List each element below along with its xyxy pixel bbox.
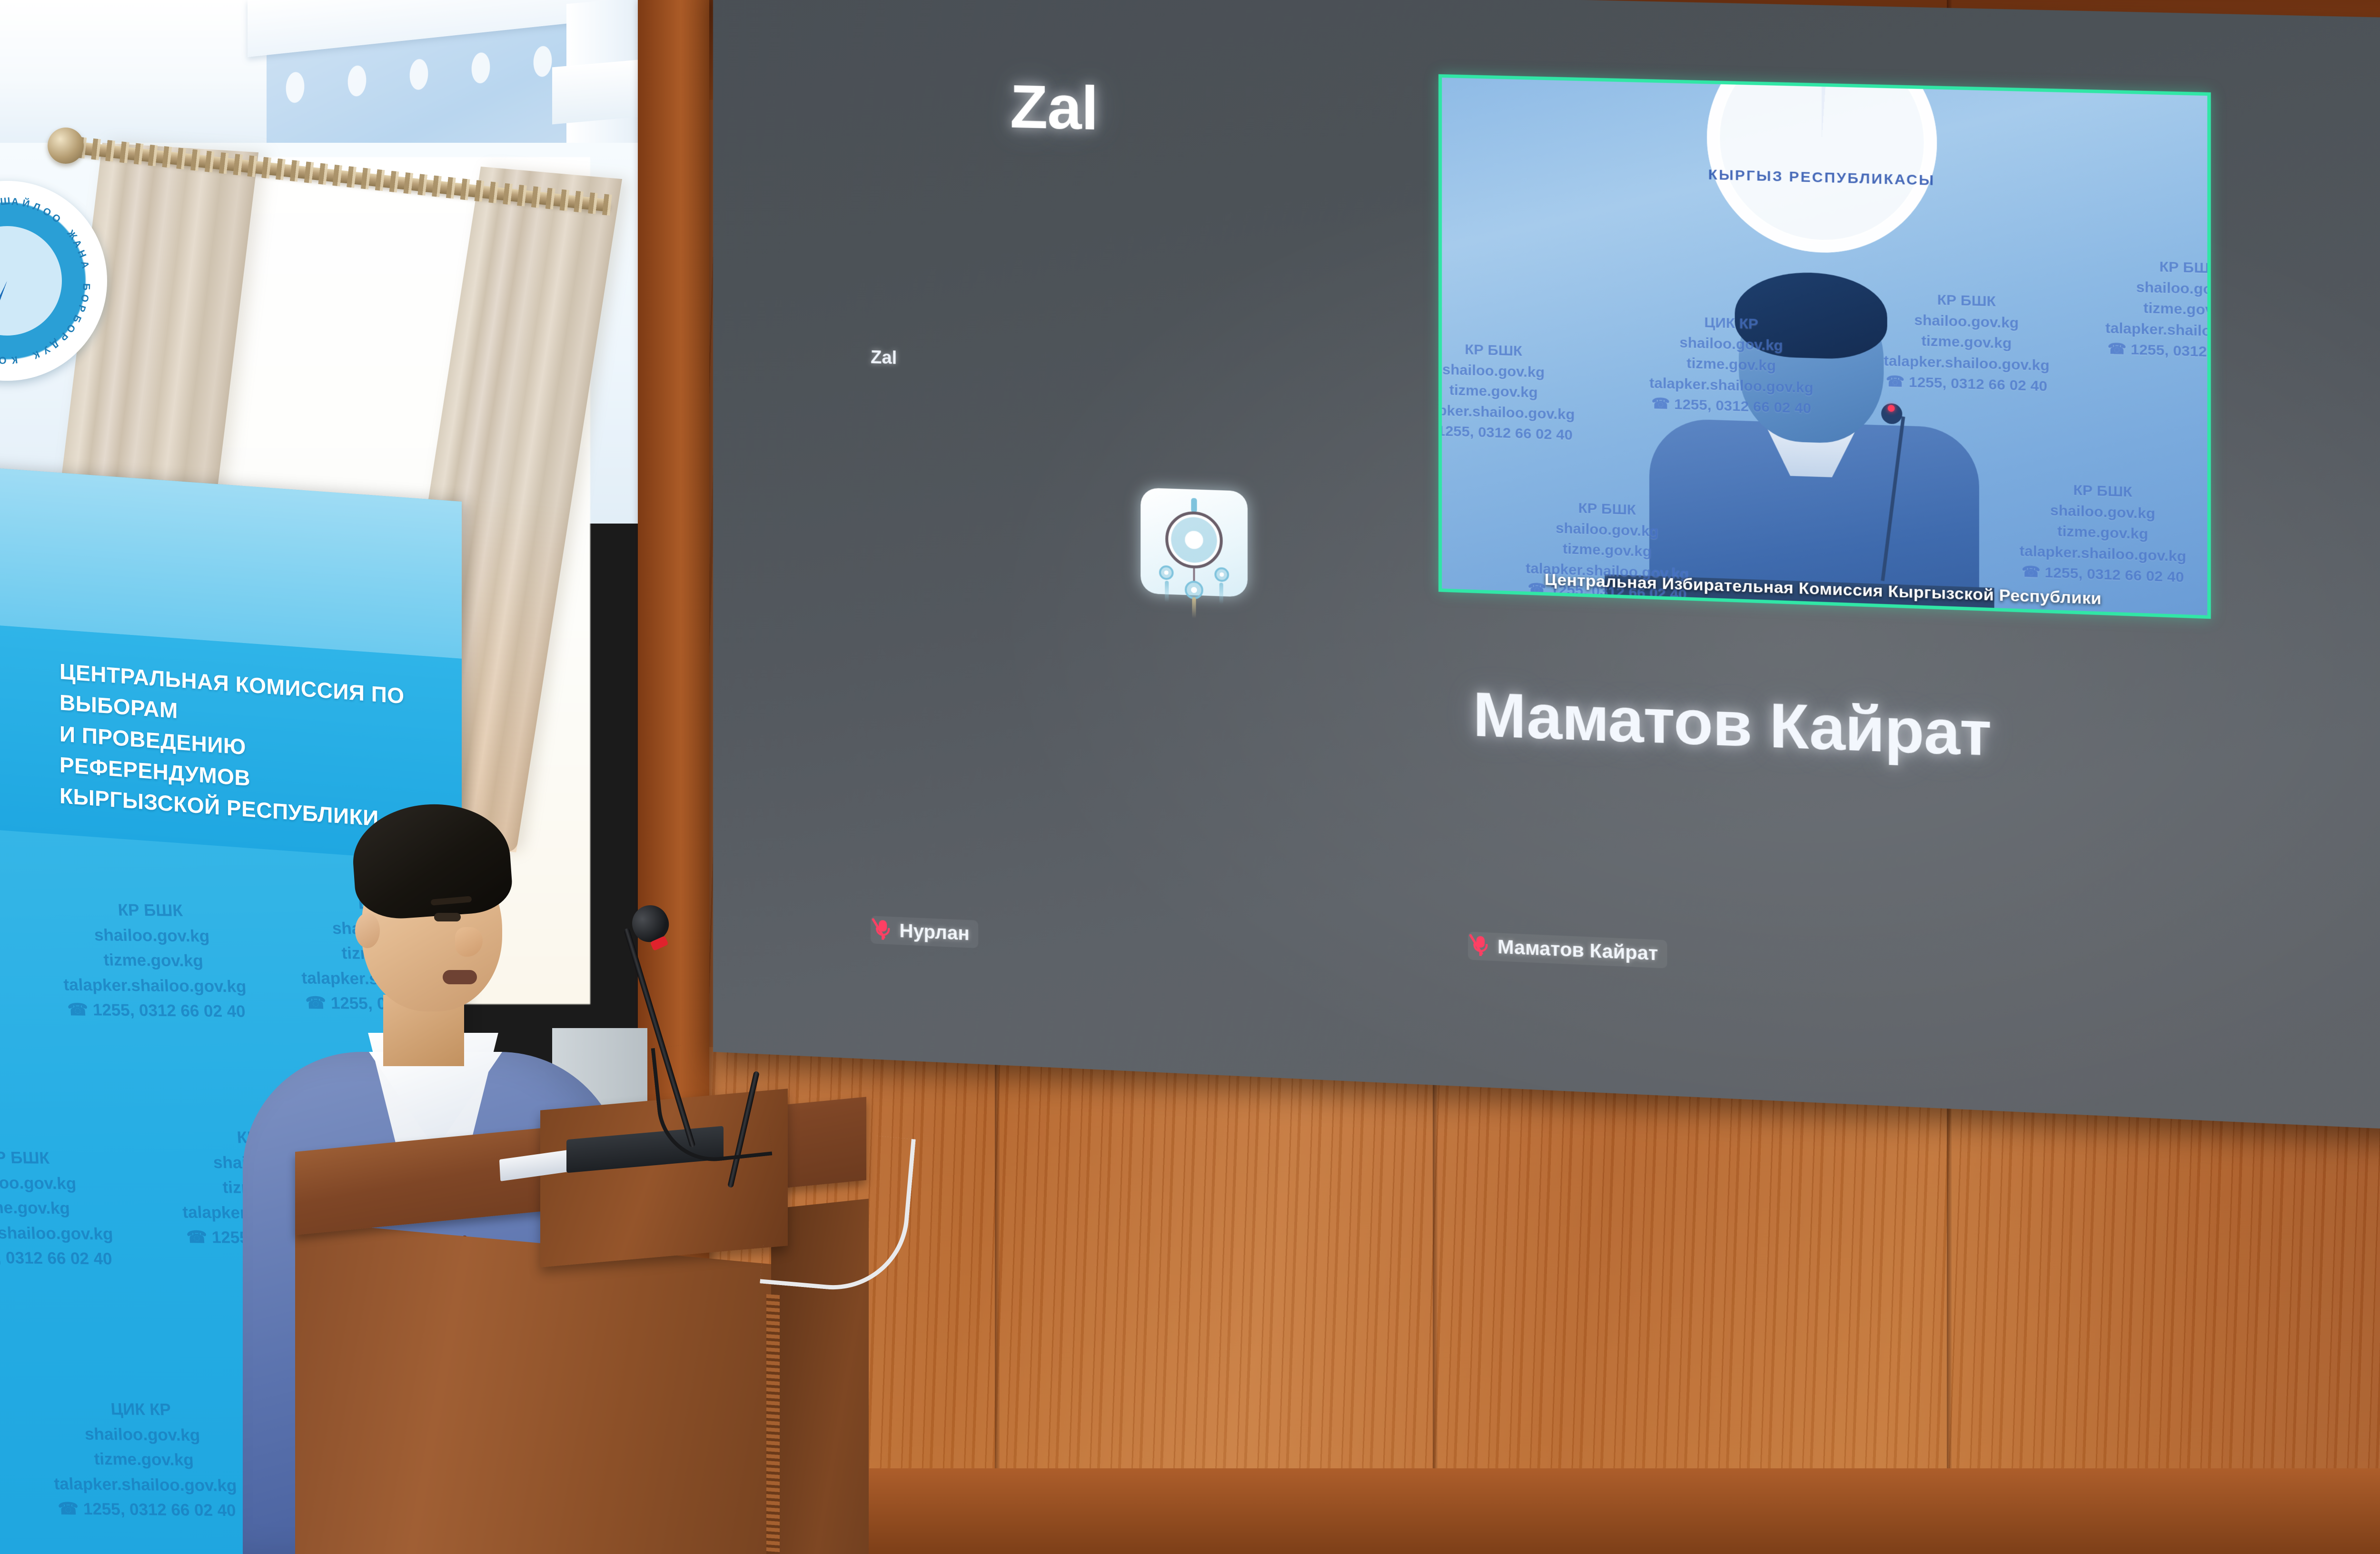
video-tile-active-speaker[interactable]: КЫРГЫЗ РЕСПУБЛИКАСЫ КР БШК shailoo.gov.k… xyxy=(1438,74,2211,619)
screen-main-label: Zal xyxy=(1010,71,1098,144)
participant-chip-nurlan[interactable]: Нурлан xyxy=(871,916,978,948)
mic-muted-icon[interactable] xyxy=(874,919,891,942)
cec-logo-text-glyph: А xyxy=(11,196,20,208)
cec-logo-text-glyph xyxy=(23,351,30,363)
dreamcatcher-feather-left-icon xyxy=(1165,581,1169,602)
podium-ridge-trim xyxy=(766,1294,780,1554)
dreamcatcher-feather-center-icon xyxy=(1192,597,1196,619)
participant-name-label: Маматов Кайрат xyxy=(1497,936,1658,965)
curtain-rod-finial xyxy=(48,128,84,164)
cec-logo-icon: ШАЙЛОО ЖАНА БОРБОРДУК КОМИССИЯСЫ xyxy=(0,181,107,381)
cec-logo-text-glyph: Л xyxy=(31,201,42,214)
wall-skirting xyxy=(709,1468,2380,1554)
video-watermark: КР БШК shailoo.gov.kg tizme.gov.kg talap… xyxy=(2020,478,2186,588)
mic-muted-icon[interactable] xyxy=(1472,935,1488,958)
cec-logo-text-glyph: Й xyxy=(21,198,31,210)
video-watermark: КР БШК shailoo.gov.kg tizme.gov.kg talap… xyxy=(1884,288,2049,397)
video-watermark: ЦИК КР shailoo.gov.kg tizme.gov.kg talap… xyxy=(1649,311,1814,419)
cec-logo-text-glyph: А xyxy=(78,260,91,270)
cec-logo-text-glyph: К xyxy=(30,348,41,361)
dreamcatcher-bead-right-icon xyxy=(1214,567,1229,582)
banner-watermark: ЦИК КР shailoo.gov.kg tizme.gov.kg talap… xyxy=(49,1396,239,1524)
cec-logo-text-glyph: Р xyxy=(75,303,88,314)
speaker-ear xyxy=(355,913,380,948)
banner-watermark: КР БШК shailoo.gov.kg tizme.gov.kg talap… xyxy=(0,1145,115,1272)
conference-room-scene: Zal Zal Маматов Кайрат КЫРГЫЗ РЕСПУБЛИКА… xyxy=(0,0,2380,1554)
speaker-mouth xyxy=(443,970,477,984)
video-watermark: КР БШК shailoo.gov.kg tizme.gov.kg talap… xyxy=(1438,338,1575,446)
cec-logo-text-glyph: У xyxy=(40,343,52,356)
cec-logo-text-glyph: Н xyxy=(75,248,89,260)
dreamcatcher-feather-right-icon xyxy=(1220,583,1223,604)
cec-logo-text-glyph: Д xyxy=(48,337,61,351)
participant-chip-mamatov[interactable]: Маматов Кайрат xyxy=(1468,931,1667,968)
cec-logo-text: ШАЙЛОО ЖАНА БОРБОРДУК КОМИССИЯСЫ xyxy=(0,181,107,381)
dreamcatcher-icon xyxy=(1165,511,1223,569)
participant-avatar-tile[interactable] xyxy=(1140,488,1248,597)
cec-logo-text-glyph: К xyxy=(10,354,18,366)
screen-secondary-label: Zal xyxy=(871,347,897,369)
active-speaker-name: Маматов Кайрат xyxy=(1473,678,1991,771)
cec-logo-text-glyph: О xyxy=(0,354,7,366)
cec-logo-text-glyph: Б xyxy=(69,313,83,325)
video-microphone-led-icon xyxy=(1888,405,1895,412)
cec-logo-text-glyph: О xyxy=(78,293,91,304)
cec-emblem-ring-icon xyxy=(1706,74,1936,256)
participant-name-label: Нурлан xyxy=(899,920,969,945)
banner-watermark: КР БШК shailoo.gov.kg tizme.gov.kg talap… xyxy=(58,897,248,1024)
dreamcatcher-bead-center-icon xyxy=(1185,581,1203,600)
video-watermark: КР БШК shailoo.gov.kg tizme.gov.kg talap… xyxy=(2105,255,2211,365)
cec-logo-text-glyph: Б xyxy=(80,283,92,291)
projection-screen[interactable]: Zal Zal Маматов Кайрат КЫРГЫЗ РЕСПУБЛИКА… xyxy=(713,0,2380,1133)
dreamcatcher-bead-left-icon xyxy=(1159,565,1174,580)
podium-front-panel xyxy=(295,1221,776,1554)
speaker-eye xyxy=(434,913,461,921)
cec-logo-text-glyph: Ш xyxy=(0,196,11,208)
dreamcatcher-top-icon xyxy=(1191,498,1197,513)
cec-logo-text-glyph xyxy=(80,271,92,276)
